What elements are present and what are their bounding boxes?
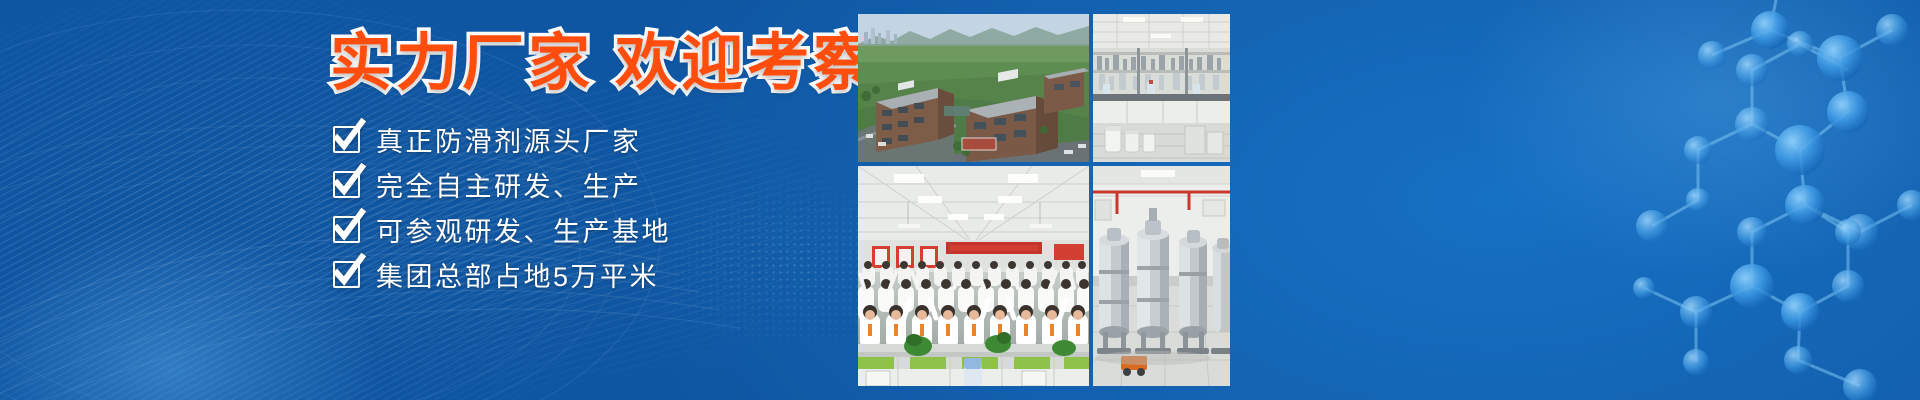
list-item-label: 集团总部占地5万平米 xyxy=(376,255,659,294)
checkbox-check-icon xyxy=(333,126,360,153)
aerial-campus-photo: Aerial view of company campus buildings xyxy=(858,14,1089,162)
page-title: 实力厂家 欢迎考察 xyxy=(330,28,850,99)
checkbox-check-icon xyxy=(333,261,360,288)
bottom-left-glow xyxy=(0,220,380,400)
photo-gallery: Aerial view of company campus buildings xyxy=(858,14,1230,386)
list-item: 集团总部占地5万平米 xyxy=(333,253,873,295)
staff-group-photo: Large group of employees in white shirts… xyxy=(858,166,1089,386)
production-equipment-photo: Stainless steel production reactor vesse… xyxy=(1093,166,1230,386)
list-item-label: 完全自主研发、生产 xyxy=(376,165,642,204)
top-right-glow xyxy=(1460,0,1920,280)
list-item-label: 真正防滑剂源头厂家 xyxy=(376,120,642,159)
list-item-label: 可参观研发、生产基地 xyxy=(376,210,671,249)
promotional-banner: 实力厂家 欢迎考察 真正防滑剂源头厂家 完全自主研发、生产 可参观研发、生产基地 xyxy=(0,0,1920,400)
list-item: 可参观研发、生产基地 xyxy=(333,208,873,250)
feature-list: 真正防滑剂源头厂家 完全自主研发、生产 可参观研发、生产基地 集团总部占地5万平… xyxy=(333,118,873,298)
laboratory-photo: Research laboratory interior with benche… xyxy=(1093,14,1230,162)
checkbox-check-icon xyxy=(333,171,360,198)
list-item: 真正防滑剂源头厂家 xyxy=(333,118,873,160)
list-item: 完全自主研发、生产 xyxy=(333,163,873,205)
molecule-structure-pattern xyxy=(1300,0,1920,400)
checkbox-check-icon xyxy=(333,216,360,243)
